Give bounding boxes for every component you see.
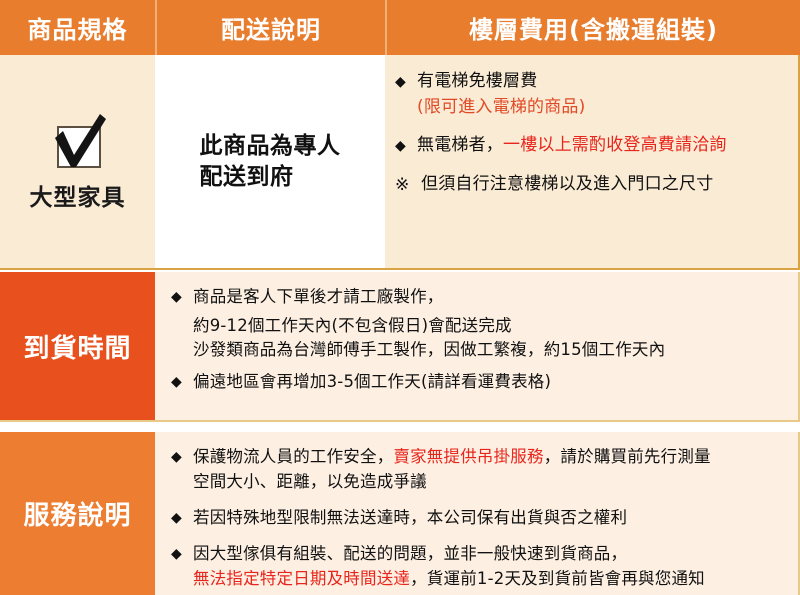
bullet-diamond-icon: ◆ bbox=[395, 133, 417, 157]
cell-product-category: 大型家具 bbox=[0, 55, 155, 268]
cell-arrival-time-content: ◆ 商品是客人下單後才請工廠製作， 約9-12個工作天內(不包含假日)會配送完成… bbox=[155, 272, 800, 420]
floor-fee-item-2: ◆ 無電梯者，一樓以上需酌收登高費請洽詢 bbox=[395, 133, 790, 159]
arrival-item-1-subline-1: 約9-12個工作天內(不包含假日)會配送完成 bbox=[171, 313, 790, 338]
header-cell-product-spec: 商品規格 bbox=[0, 0, 155, 55]
floor-fee-item-1-line-1: 有電梯免樓層費 bbox=[417, 69, 790, 95]
floor-fee-item-3-text: 但須自行注意樓梯以及進入門口之尺寸 bbox=[421, 172, 790, 198]
floor-fee-item-2-prefix: 無電梯者， bbox=[417, 135, 503, 155]
floor-fee-item-2-highlight: 一樓以上需酌收登高費請洽詢 bbox=[503, 135, 727, 155]
service-item-3-last-line: 無法指定特定日期及時間送達，貨運前1-2天及到貨前皆會再與您通知 bbox=[193, 566, 790, 591]
service-item-1-highlight: 賣家無提供吊掛服務 bbox=[393, 447, 543, 466]
service-item-1-subline: 空間大小、距離，以免造成爭議 bbox=[193, 469, 790, 494]
table-row-service-note: 服務說明 ◆ 保護物流人員的工作安全，賣家無提供吊掛服務，請於購買前先行測量空間… bbox=[0, 432, 800, 595]
service-item-1: ◆ 保護物流人員的工作安全，賣家無提供吊掛服務，請於購買前先行測量空間大小、距離… bbox=[171, 444, 790, 494]
bullet-diamond-icon: ◆ bbox=[171, 444, 193, 468]
service-item-3-text: 因大型傢俱有組裝、配送的問題，並非一般快速到貨商品，無法指定特定日期及時間送達，… bbox=[193, 541, 790, 591]
delivery-note-text: 此商品為專人 配送到府 bbox=[200, 131, 341, 193]
cell-service-note-content: ◆ 保護物流人員的工作安全，賣家無提供吊掛服務，請於購買前先行測量空間大小、距離… bbox=[155, 432, 800, 595]
service-item-1-suffix: ，請於購買前先行測量 bbox=[544, 447, 711, 466]
header-cell-floor-fee: 樓層費用(含搬運組裝) bbox=[385, 0, 800, 55]
checkmark-glyph bbox=[47, 112, 109, 172]
bullet-diamond-icon: ◆ bbox=[171, 505, 193, 529]
service-item-1-text: 保護物流人員的工作安全，賣家無提供吊掛服務，請於購買前先行測量空間大小、距離，以… bbox=[193, 444, 790, 494]
bullet-diamond-icon: ◆ bbox=[395, 69, 417, 93]
cell-delivery-note: 此商品為專人 配送到府 bbox=[155, 55, 385, 268]
service-item-3-highlight: 無法指定特定日期及時間送達 bbox=[193, 569, 410, 588]
service-item-3: ◆ 因大型傢俱有組裝、配送的問題，並非一般快速到貨商品，無法指定特定日期及時間送… bbox=[171, 541, 790, 591]
arrival-item-1-subline-2: 沙發類商品為台灣師傅手工製作，因做工繁複，約15個工作天內 bbox=[171, 337, 790, 362]
service-item-3-prefix: 因大型傢俱有組裝、配送的問題，並非一般快速到貨商品， bbox=[193, 544, 627, 563]
table-header-row: 商品規格 配送說明 樓層費用(含搬運組裝) bbox=[0, 0, 800, 55]
table-row-arrival-time: 到貨時間 ◆ 商品是客人下單後才請工廠製作， 約9-12個工作天內(不包含假日)… bbox=[0, 272, 800, 422]
shipping-info-table: 商品規格 配送說明 樓層費用(含搬運組裝) 大型家具 此商品為專人 配送到府 ◆ bbox=[0, 0, 800, 595]
floor-fee-item-1-line-2: (限可進入電梯的商品) bbox=[417, 95, 790, 121]
row-label-arrival-time: 到貨時間 bbox=[0, 272, 155, 420]
floor-fee-item-1-text: 有電梯免樓層費 (限可進入電梯的商品) bbox=[417, 69, 790, 120]
floor-fee-item-1: ◆ 有電梯免樓層費 (限可進入電梯的商品) bbox=[395, 69, 790, 120]
asterisk-reference-icon: ※ bbox=[395, 172, 421, 199]
service-item-2: ◆ 若因特殊地型限制無法送達時，本公司保有出貨與否之權利 bbox=[171, 505, 790, 530]
arrival-item-1-text: 商品是客人下單後才請工廠製作， bbox=[193, 284, 790, 309]
delivery-note-line-1: 此商品為專人 bbox=[200, 131, 341, 162]
row-label-service-note: 服務說明 bbox=[0, 432, 155, 595]
floor-fee-item-2-text: 無電梯者，一樓以上需酌收登高費請洽詢 bbox=[417, 133, 790, 159]
service-item-2-text: 若因特殊地型限制無法送達時，本公司保有出貨與否之權利 bbox=[193, 505, 790, 530]
bullet-diamond-icon: ◆ bbox=[171, 284, 193, 308]
service-item-3-rest: ，貨運前1-2天及到貨前皆會再與您通知 bbox=[410, 569, 705, 588]
bullet-diamond-icon: ◆ bbox=[171, 369, 193, 393]
service-item-1-prefix: 保護物流人員的工作安全， bbox=[193, 447, 393, 466]
product-category-label: 大型家具 bbox=[30, 178, 126, 212]
table-row-product-spec: 大型家具 此商品為專人 配送到府 ◆ 有電梯免樓層費 (限可進入電梯的商品) ◆… bbox=[0, 55, 800, 270]
checkbox-checked-icon bbox=[47, 112, 109, 172]
delivery-note-line-2: 配送到府 bbox=[200, 162, 341, 193]
arrival-item-2: ◆ 偏遠地區會再增加3-5個工作天(請詳看運費表格) bbox=[171, 369, 790, 394]
arrival-item-1: ◆ 商品是客人下單後才請工廠製作， bbox=[171, 284, 790, 309]
bullet-diamond-icon: ◆ bbox=[171, 541, 193, 565]
arrival-item-2-text: 偏遠地區會再增加3-5個工作天(請詳看運費表格) bbox=[193, 369, 790, 394]
floor-fee-item-3: ※ 但須自行注意樓梯以及進入門口之尺寸 bbox=[395, 172, 790, 199]
cell-floor-fee: ◆ 有電梯免樓層費 (限可進入電梯的商品) ◆ 無電梯者，一樓以上需酌收登高費請… bbox=[385, 55, 800, 268]
header-cell-delivery-note: 配送說明 bbox=[155, 0, 385, 55]
